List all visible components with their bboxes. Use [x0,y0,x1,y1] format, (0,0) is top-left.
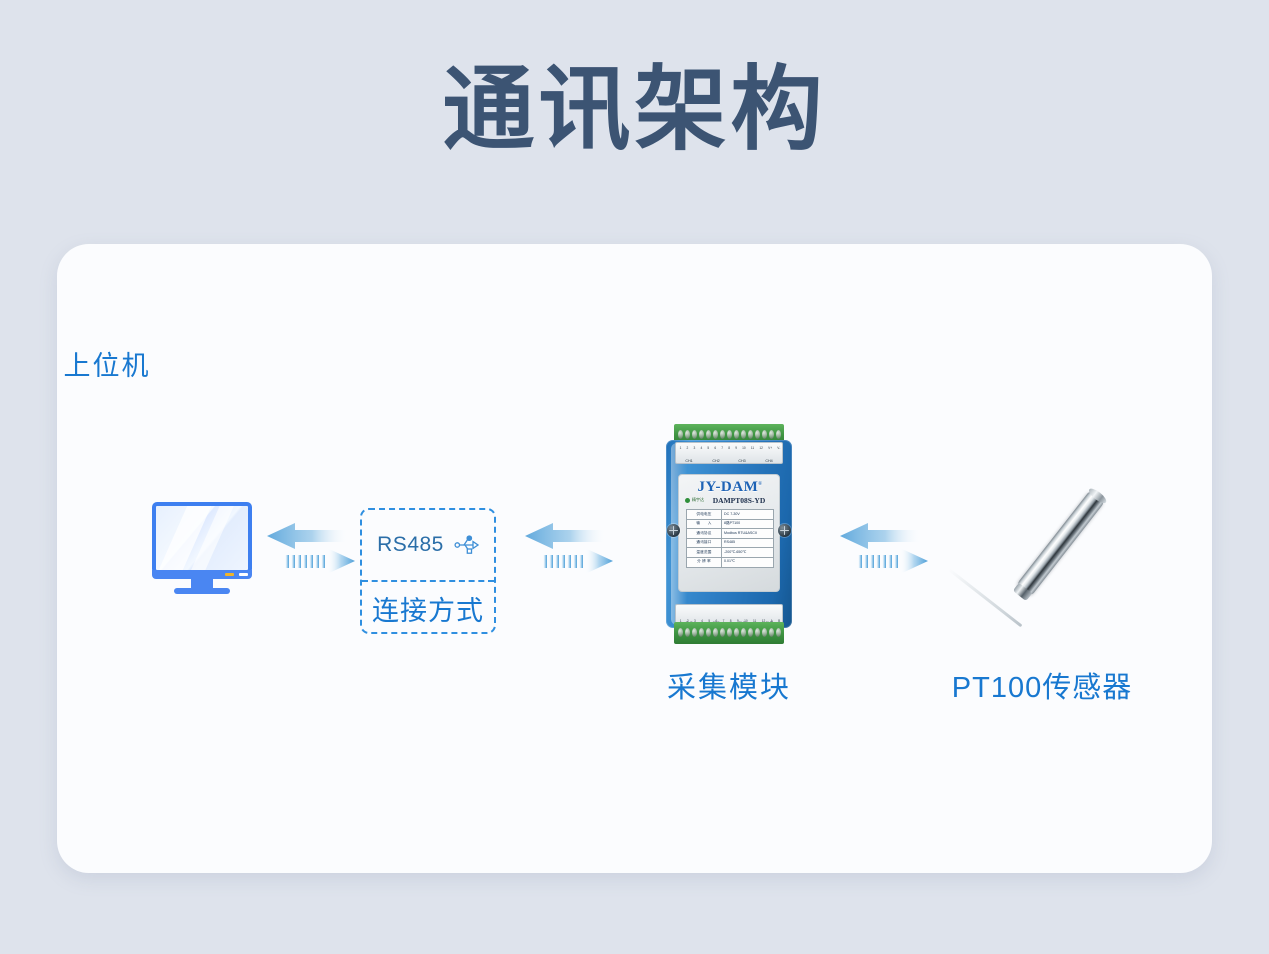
probe-end-cap [1087,486,1108,505]
node-module: 1234567 89101112V+V- CH1 CH2 CH3 CH4 JY-… [666,424,792,644]
probe-neck [1013,583,1033,601]
module-screw-right [778,524,791,537]
module-model-number: DAMPT08S-YD [679,496,780,505]
bidirectional-arrow-icon [838,522,930,578]
spec-key-1: 输 入 [687,519,722,529]
channel-label-ch1: CH1 [686,458,693,463]
spec-key-3: 通讯接口 [687,538,722,548]
spec-value-2: Modbus RTU&ASCII [722,529,774,539]
connection-method-label: 连接方式 [362,582,494,634]
connection-protocol-row: RS485 [362,510,494,582]
table-row: 分 辨 率 0.01℃ [687,557,774,567]
spec-value-4: -200℃-650℃ [722,548,774,558]
channel-label-ch2: CH2 [712,458,719,463]
module-spec-table: 供电电压 DC 7-30V 输 入 8路PT100 通讯协议 Modbus RT… [686,509,774,568]
spec-key-2: 通讯协议 [687,529,722,539]
module-brand-logo: JY-DAM® [679,479,780,496]
sensor-cable [948,568,1022,627]
spec-value-1: 8路PT100 [722,519,774,529]
spec-key-5: 分 辨 率 [687,557,722,567]
node-connection[interactable]: RS485 连接方式 [360,508,496,634]
node-sensor [937,444,1137,644]
bidirectional-arrow-icon [265,522,357,578]
connector-connection-to-module [523,522,615,578]
monitor-led-white [239,573,248,576]
pin-numbers-top: 1234567 89101112V+V- [677,444,783,451]
table-row: 供电电压 DC 7-30V [687,510,774,520]
terminal-labels-top: 1234567 89101112V+V- CH1 CH2 CH3 CH4 [675,442,783,464]
connection-protocol-label: RS485 [377,533,444,557]
monitor-led-amber [225,573,234,576]
node-host [152,502,262,592]
table-row: 通讯接口 RS485 [687,538,774,548]
module-brand-text: JY-DAM [697,479,758,495]
spec-value-3: RS485 [722,538,774,548]
monitor-stand-base [174,588,230,594]
channel-label-ch4: CH4 [765,458,772,463]
table-row: 温度范围 -200℃-650℃ [687,548,774,558]
node-sensor-label: PT100传感器 [877,664,1207,706]
module-screw-left [667,524,680,537]
diagram-stage: 上位机 [57,244,1212,873]
monitor-icon [152,502,252,574]
table-row: 输 入 8路PT100 [687,519,774,529]
monitor-bezel-bar [152,570,252,579]
usb-icon [453,534,479,556]
spec-key-0: 供电电压 [687,510,722,520]
spec-value-0: DC 7-30V [722,510,774,520]
module-brand-trademark: ® [758,482,762,487]
module-faceplate: JY-DAM® 精宇达 DAMPT08S-YD 供电电压 DC 7-30V 输 … [678,474,780,592]
bidirectional-arrow-icon [523,522,615,578]
node-host-label: 上位机 [37,344,177,383]
connector-host-to-connection [265,522,357,578]
temperature-probe-icon [1015,488,1106,597]
table-row: 通讯协议 Modbus RTU&ASCII [687,529,774,539]
terminal-block-bottom [674,622,784,644]
diagram-card: 上位机 [57,244,1212,873]
connector-module-to-sensor [838,522,930,578]
node-module-label: 采集模块 [606,664,852,706]
spec-key-4: 温度范围 [687,548,722,558]
spec-value-5: 0.01℃ [722,557,774,567]
page-title: 通讯架构 [0,58,1269,162]
channel-label-ch3: CH3 [739,458,746,463]
